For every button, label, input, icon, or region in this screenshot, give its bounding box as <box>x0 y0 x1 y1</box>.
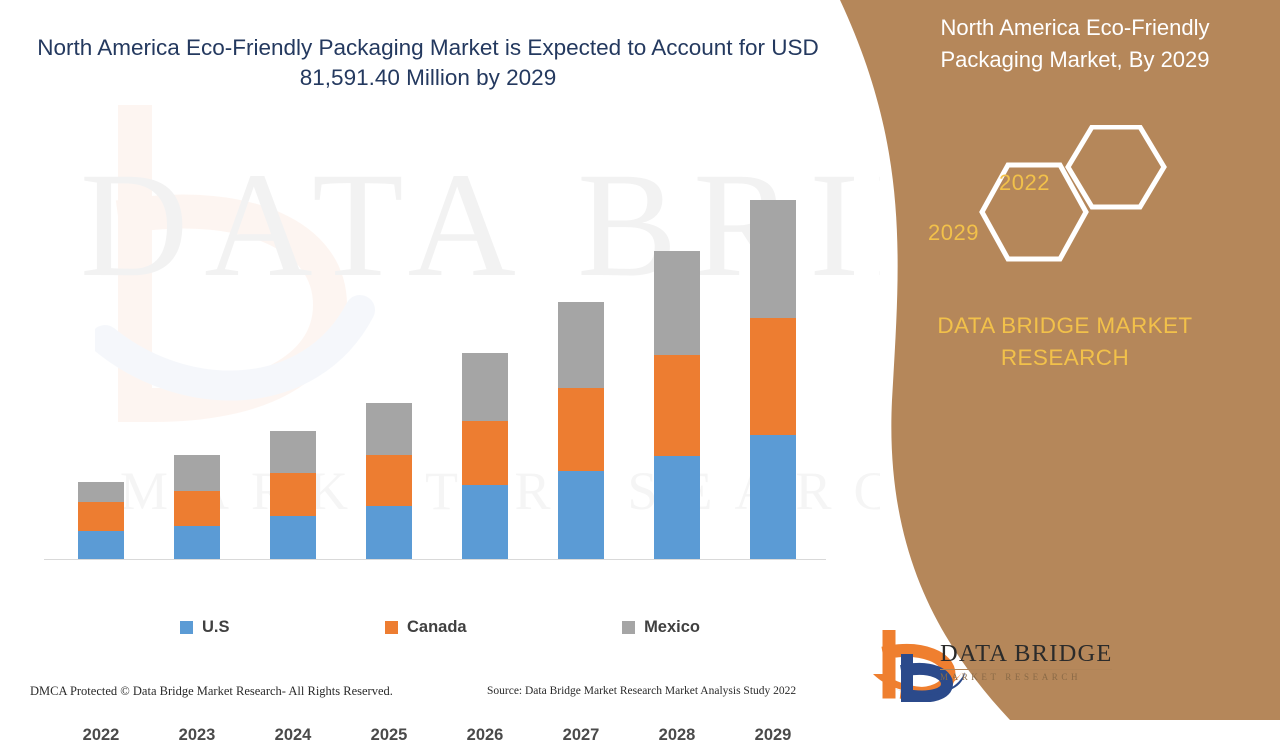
hex-2029-label: 2029 <box>928 220 979 246</box>
legend-label: Mexico <box>644 618 700 637</box>
bar-segment-mexico-2026 <box>462 353 508 421</box>
logo-name-text: DATA BRIDGE <box>940 640 1120 668</box>
bar-segment-canada-2029 <box>750 318 796 435</box>
bar-segment-canada-2025 <box>366 455 412 506</box>
legend-item-canada[interactable]: Canada <box>385 618 467 637</box>
hex-2022-shape <box>1068 127 1164 207</box>
bar-segment-canada-2024 <box>270 473 316 516</box>
logo-divider <box>940 669 1112 670</box>
brand-side-panel: North America Eco-Friendly Packaging Mar… <box>840 0 1280 720</box>
legend-label: U.S <box>202 618 230 637</box>
bar-segment-mexico-2028 <box>654 251 700 355</box>
bar-segment-us-2027 <box>558 471 604 559</box>
x-tick-2026: 2026 <box>437 726 533 745</box>
panel-title: North America Eco-Friendly Packaging Mar… <box>895 12 1255 76</box>
x-tick-2029: 2029 <box>725 726 821 745</box>
chart-legend: U.SCanadaMexico <box>180 618 700 637</box>
x-tick-2028: 2028 <box>629 726 725 745</box>
chart-title: North America Eco-Friendly Packaging Mar… <box>28 33 828 93</box>
bar-segment-us-2026 <box>462 485 508 559</box>
dmca-footer-text: DMCA Protected © Data Bridge Market Rese… <box>30 684 393 699</box>
bar-2028 <box>654 251 700 559</box>
hexagon-year-badges <box>960 125 1190 270</box>
bar-2022 <box>78 482 124 559</box>
x-tick-2025: 2025 <box>341 726 437 745</box>
logo-wordmark: DATA BRIDGE MARKET RESEARCH <box>940 640 1120 683</box>
legend-swatch-icon <box>622 621 635 634</box>
bar-segment-mexico-2023 <box>174 455 220 491</box>
bar-segment-mexico-2022 <box>78 482 124 502</box>
hex-2022-label: 2022 <box>999 170 1050 196</box>
bar-segment-us-2028 <box>654 456 700 559</box>
bar-segment-us-2029 <box>750 435 796 559</box>
brand-name-text: DATA BRIDGE MARKET RESEARCH <box>880 310 1250 374</box>
chart-panel: DATA BRIDGE MARKET RESEARCH North Americ… <box>0 0 880 720</box>
legend-item-mexico[interactable]: Mexico <box>622 618 700 637</box>
bar-segment-canada-2027 <box>558 388 604 471</box>
legend-label: Canada <box>407 618 467 637</box>
x-axis-line <box>44 559 826 560</box>
bar-segment-mexico-2029 <box>750 200 796 318</box>
bar-segment-us-2024 <box>270 516 316 559</box>
x-tick-2024: 2024 <box>245 726 341 745</box>
bar-segment-canada-2026 <box>462 421 508 485</box>
x-tick-2027: 2027 <box>533 726 629 745</box>
bar-2023 <box>174 455 220 559</box>
bar-2027 <box>558 302 604 559</box>
legend-swatch-icon <box>180 621 193 634</box>
source-footer-text: Source: Data Bridge Market Research Mark… <box>487 685 796 697</box>
bar-chart-plot-area: 20222023202420252026202720282029 <box>44 160 826 560</box>
bar-segment-mexico-2024 <box>270 431 316 473</box>
legend-item-us[interactable]: U.S <box>180 618 230 637</box>
bar-segment-us-2022 <box>78 531 124 559</box>
bar-2026 <box>462 353 508 559</box>
logo-tagline-text: MARKET RESEARCH <box>940 672 1120 683</box>
x-tick-2023: 2023 <box>149 726 245 745</box>
legend-swatch-icon <box>385 621 398 634</box>
bar-2024 <box>270 431 316 559</box>
bar-segment-us-2023 <box>174 526 220 559</box>
bar-2025 <box>366 403 412 559</box>
bar-2029 <box>750 200 796 559</box>
bar-segment-canada-2022 <box>78 502 124 531</box>
bar-segment-mexico-2027 <box>558 302 604 388</box>
bar-segment-canada-2028 <box>654 355 700 456</box>
bar-segment-mexico-2025 <box>366 403 412 455</box>
bar-segment-us-2025 <box>366 506 412 559</box>
x-tick-2022: 2022 <box>53 726 149 745</box>
bar-segment-canada-2023 <box>174 491 220 526</box>
